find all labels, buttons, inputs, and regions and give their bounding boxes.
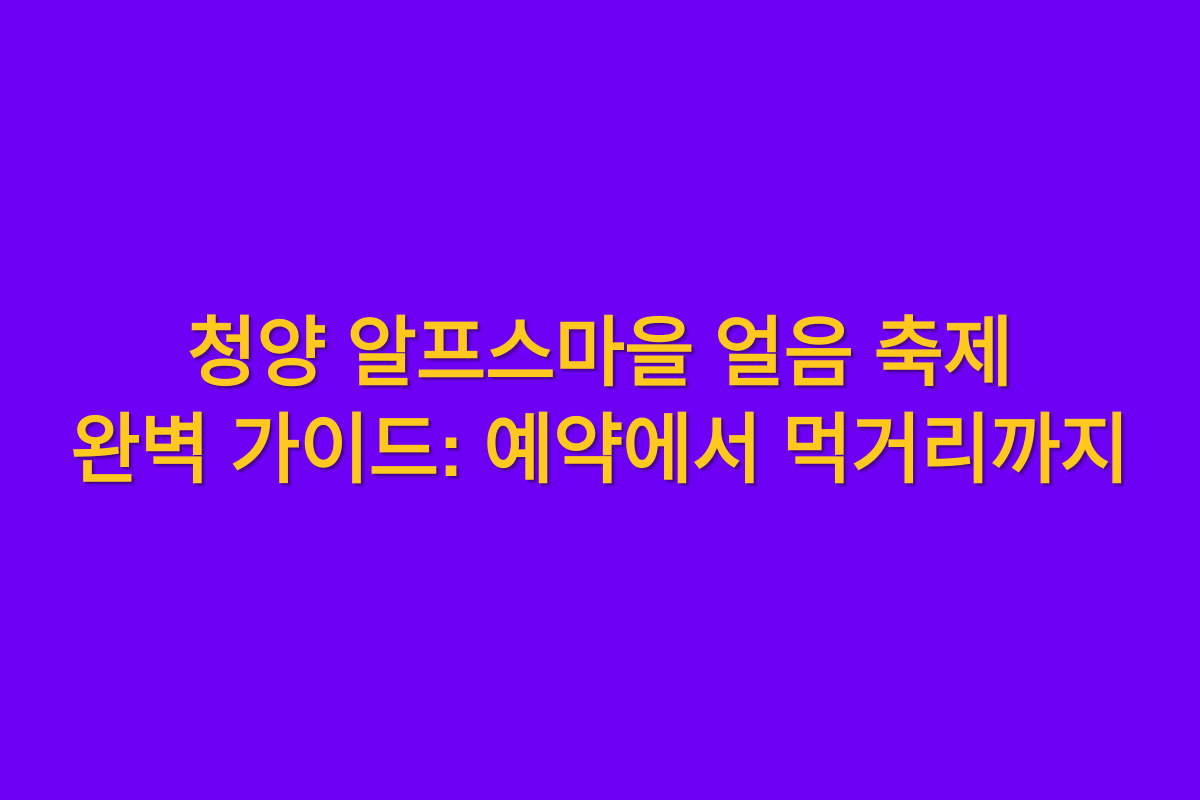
title-line-1: 청양 알프스마을 얼음 축제 — [187, 305, 1012, 402]
title-block: 청양 알프스마을 얼음 축제 완벽 가이드: 예약에서 먹거리까지 — [0, 305, 1200, 499]
title-line-2: 완벽 가이드: 예약에서 먹거리까지 — [71, 402, 1130, 499]
thumbnail-canvas: 청양 알프스마을 얼음 축제 완벽 가이드: 예약에서 먹거리까지 — [0, 0, 1200, 800]
